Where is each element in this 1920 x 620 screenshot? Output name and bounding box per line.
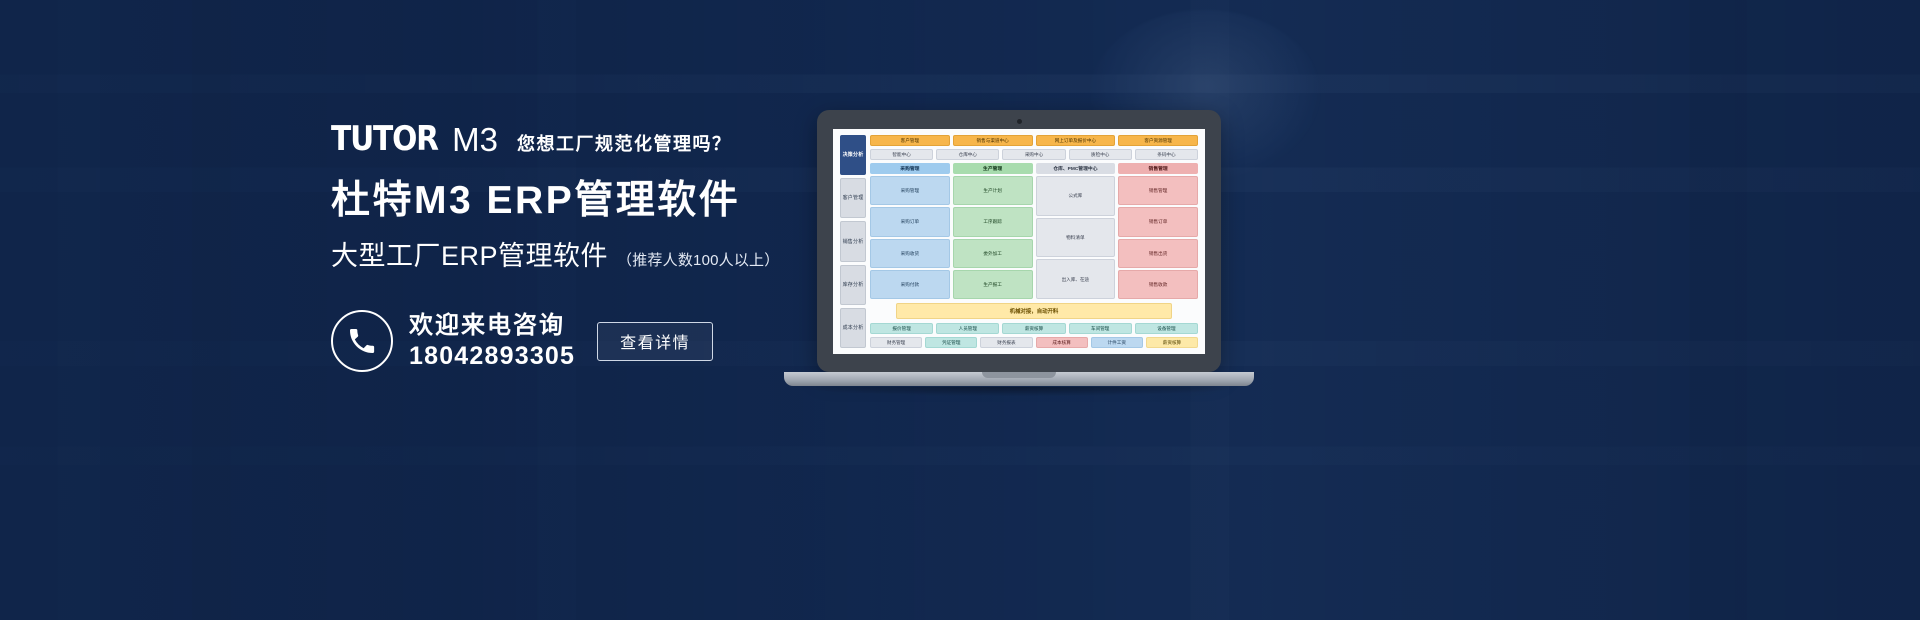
erp-chip: 采购收货 [870,239,950,268]
erp-chip: 客户资源管理 [1118,135,1198,146]
webcam-icon [1017,119,1022,124]
subtitle-text: 大型工厂ERP管理软件 [331,240,608,272]
logo-text-m3: M3 [452,123,498,156]
hero-banner: TUTOR M3 您想工厂规范化管理吗？ 杜特M3 ERP管理软件 大型工厂ER… [0,0,1920,620]
erp-chip: 出入库、在途 [1036,259,1116,299]
cta-row: 欢迎来电咨询 18042893305 查看详情 [331,310,851,372]
erp-column: 销售管理 销售管理 销售订单 销售出货 销售收款 [1118,163,1198,299]
erp-chip: 工序跟踪 [953,207,1033,236]
erp-chip: 条码中心 [1135,149,1198,160]
subtitle-note: （推荐人数100人以上） [617,252,779,270]
erp-chip: 成本核算 [1036,337,1088,348]
erp-column-title: 销售管理 [1118,163,1198,174]
erp-chip: 薪资核算 [1002,323,1065,334]
phone-welcome-label: 欢迎来电咨询 [409,311,575,340]
page-title: 杜特M3 ERP管理软件 [331,178,851,224]
laptop-mockup: 决策分析 客户管理 销售分析 库存分析 成本分析 客户管理 销售与渠道中心 网上… [784,110,1254,400]
erp-main-area: 客户管理 销售与渠道中心 网上订单及报价中心 客户资源管理 智能中心 仓库中心 … [870,135,1198,348]
erp-chip: 薪资核算 [1146,337,1198,348]
erp-row-bottom-2: 财务管理 凭证管理 财务报表 成本核算 计件工资 薪资核算 [870,337,1198,348]
laptop-screen: 决策分析 客户管理 销售分析 库存分析 成本分析 客户管理 销售与渠道中心 网上… [833,129,1205,354]
subtitle-row: 大型工厂ERP管理软件 （推荐人数100人以上） [331,240,851,272]
erp-column: 仓库、PMC管理中心 公式库 物料清单 出入库、在途 [1036,163,1116,299]
erp-chip: 客户管理 [870,135,950,146]
erp-chip: 销售订单 [1118,207,1198,236]
erp-chip: 采购订单 [870,207,950,236]
erp-chip: 采购中心 [1002,149,1065,160]
erp-chip: 采购管理 [870,176,950,205]
erp-chip: 财务管理 [870,337,922,348]
erp-chip: 销售管理 [1118,176,1198,205]
laptop-notch [982,372,1056,378]
erp-chip: 销售出货 [1118,239,1198,268]
laptop-shadow [798,387,1240,396]
erp-column-title: 生产管理 [953,163,1033,174]
erp-chip: 公式库 [1036,176,1116,216]
phone-icon[interactable] [331,310,393,372]
erp-chip: 报价管理 [870,323,933,334]
erp-chip: 销售收款 [1118,270,1198,299]
brand-tagline: 您想工厂规范化管理吗？ [517,134,732,156]
erp-chip: 网上订单及报价中心 [1036,135,1116,146]
erp-chip: 智能中心 [870,149,933,160]
erp-row-bottom-1: 报价管理 人员管理 薪资核算 车间管理 设备管理 [870,323,1198,334]
erp-chip: 设备管理 [1135,323,1198,334]
erp-column: 采购管理 采购管理 采购订单 采购收货 采购付款 [870,163,950,299]
erp-chip: 物料清单 [1036,218,1116,258]
erp-chip: 销售与渠道中心 [953,135,1033,146]
erp-chip: 人员管理 [936,323,999,334]
laptop-lid: 决策分析 客户管理 销售分析 库存分析 成本分析 客户管理 销售与渠道中心 网上… [817,110,1221,372]
erp-row-second: 智能中心 仓库中心 采购中心 质检中心 条码中心 [870,149,1198,160]
erp-chip: 质检中心 [1069,149,1132,160]
hero-content: TUTOR M3 您想工厂规范化管理吗？ 杜特M3 ERP管理软件 大型工厂ER… [331,116,851,372]
view-details-button[interactable]: 查看详情 [597,322,713,361]
erp-module-columns: 采购管理 采购管理 采购订单 采购收货 采购付款 生产管理 生产计划 工序跟踪 [870,163,1198,299]
erp-chip: 委外加工 [953,239,1033,268]
erp-chip: 财务报表 [980,337,1032,348]
phone-number[interactable]: 18042893305 [409,341,575,371]
erp-chip: 凭证管理 [925,337,977,348]
erp-chip: 计件工资 [1091,337,1143,348]
erp-chip: 车间管理 [1069,323,1132,334]
erp-row-top: 客户管理 销售与渠道中心 网上订单及报价中心 客户资源管理 [870,135,1198,146]
erp-column: 生产管理 生产计划 工序跟踪 委外加工 生产报工 [953,163,1033,299]
logo-text-tutor: TUTOR [331,122,438,156]
erp-chip: 生产报工 [953,270,1033,299]
phone-text-block: 欢迎来电咨询 18042893305 [409,311,575,371]
erp-highlight-band: 机械对接，自动开料 [896,303,1172,319]
erp-chip: 仓库中心 [936,149,999,160]
brand-logo: TUTOR M3 您想工厂规范化管理吗？ [331,116,851,156]
erp-column-title: 仓库、PMC管理中心 [1036,163,1116,174]
erp-column-title: 采购管理 [870,163,950,174]
erp-chip: 采购付款 [870,270,950,299]
erp-architecture-diagram: 决策分析 客户管理 销售分析 库存分析 成本分析 客户管理 销售与渠道中心 网上… [833,129,1205,354]
erp-chip: 生产计划 [953,176,1033,205]
